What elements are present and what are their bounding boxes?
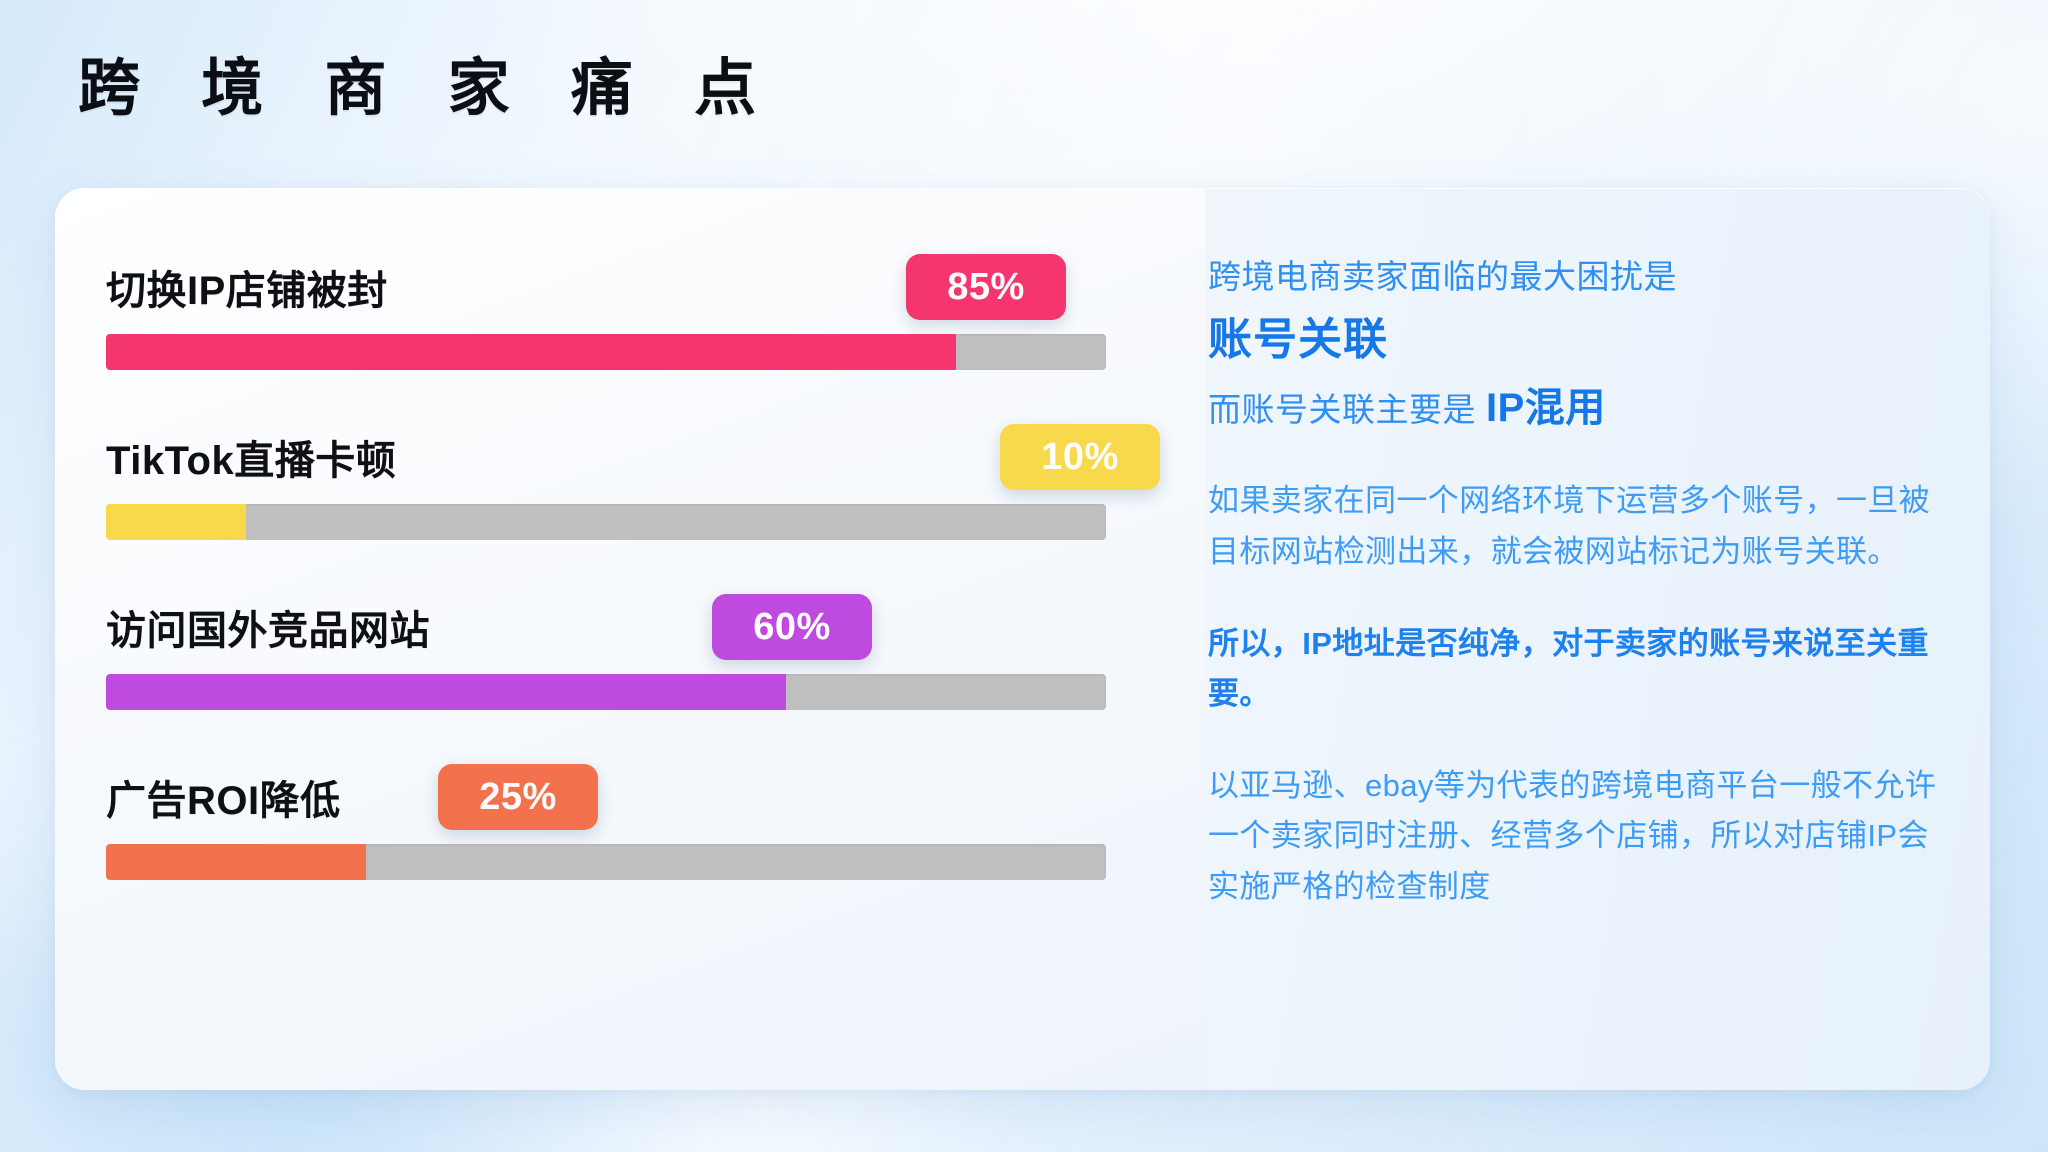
metric-bar-fill — [106, 674, 786, 710]
info-subline: 而账号关联主要是IP混用 — [1208, 382, 1948, 434]
info-subline-prefix: 而账号关联主要是 — [1208, 391, 1476, 428]
metric-value-badge: 85% — [906, 254, 1066, 320]
metric-value-badge: 60% — [712, 594, 872, 660]
metric-value-badge: 10% — [1000, 424, 1160, 490]
info-lead-text: 跨境电商卖家面临的最大困扰是 — [1208, 252, 1948, 302]
info-paragraph: 如果卖家在同一个网络环境下运营多个账号，一旦被目标网站检测出来，就会被网站标记为… — [1208, 476, 1948, 576]
metric-bar-track — [106, 334, 1106, 370]
metric-header: TikTok直播卡顿10% — [106, 416, 1116, 490]
info-paragraph: 以亚马逊、ebay等为代表的跨境电商平台一般不允许一个卖家同时注册、经营多个店铺… — [1208, 761, 1948, 912]
metric-header: 广告ROI降低25% — [106, 756, 1116, 830]
metric-value-badge: 25% — [438, 764, 598, 830]
page-title: 跨 境 商 家 痛 点 — [78, 58, 778, 120]
metric-bar-track — [106, 674, 1106, 710]
info-subline-strong: IP混用 — [1486, 386, 1606, 430]
info-paragraph: 所以，IP地址是否纯净，对于卖家的账号来说至关重要。 — [1208, 619, 1948, 719]
metric-label: 广告ROI降低 — [106, 768, 341, 826]
metric-bar-track — [106, 504, 1106, 540]
info-paragraph-list: 如果卖家在同一个网络环境下运营多个账号，一旦被目标网站检测出来，就会被网站标记为… — [1208, 476, 1948, 912]
metric-row: 访问国外竞品网站60% — [106, 586, 1116, 710]
metric-bar-fill — [106, 844, 366, 880]
info-headline: 账号关联 — [1208, 314, 1948, 367]
metric-header: 访问国外竞品网站60% — [106, 586, 1116, 660]
metric-bar-track — [106, 844, 1106, 880]
metric-row: 切换IP店铺被封85% — [106, 246, 1116, 370]
metrics-panel: 切换IP店铺被封85%TikTok直播卡顿10%访问国外竞品网站60%广告ROI… — [106, 246, 1116, 880]
metric-label: 访问国外竞品网站 — [106, 598, 430, 656]
metric-row: TikTok直播卡顿10% — [106, 416, 1116, 540]
metric-label: 切换IP店铺被封 — [106, 258, 388, 316]
info-panel: 跨境电商卖家面临的最大困扰是 账号关联 而账号关联主要是IP混用 如果卖家在同一… — [1208, 252, 1948, 912]
metric-row: 广告ROI降低25% — [106, 756, 1116, 880]
metric-header: 切换IP店铺被封85% — [106, 246, 1116, 320]
metric-label: TikTok直播卡顿 — [106, 428, 396, 486]
metric-bar-fill — [106, 504, 246, 540]
metric-bar-fill — [106, 334, 956, 370]
slide-root: 跨 境 商 家 痛 点 切换IP店铺被封85%TikTok直播卡顿10%访问国外… — [0, 0, 2048, 1152]
